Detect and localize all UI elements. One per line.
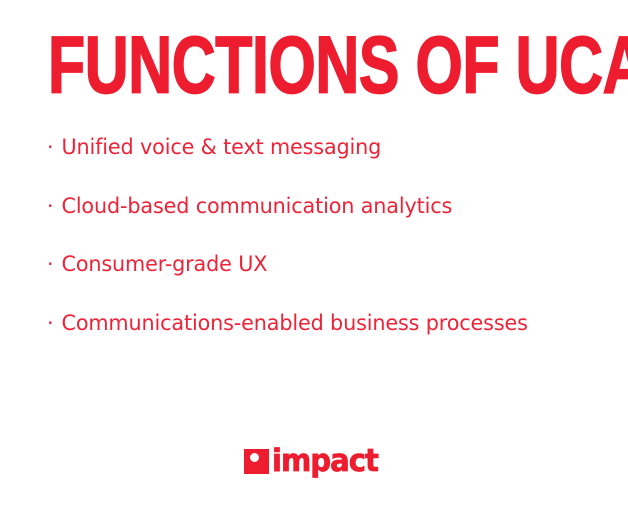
bullet-dot-icon: · xyxy=(47,133,60,164)
list-item-label: Communications-enabled business processe… xyxy=(61,309,575,340)
page-title: FUNCTIONS OF UCAAS xyxy=(48,33,628,99)
list-item-label: Unified voice & text messaging xyxy=(61,133,575,164)
impact-wordmark: impact xyxy=(272,446,378,477)
bullet-dot-icon: · xyxy=(47,192,60,223)
list-item: · Consumer-grade UX xyxy=(47,250,576,281)
impact-logo: impact xyxy=(0,441,628,481)
list-item: · Communications-enabled business proces… xyxy=(47,309,576,340)
list-item: · Unified voice & text messaging xyxy=(47,133,576,164)
list-item: · Cloud-based communication analytics xyxy=(47,192,576,223)
slide-canvas: FUNCTIONS OF UCAAS · Unified voice & tex… xyxy=(0,0,628,512)
bullet-dot-icon: · xyxy=(47,250,60,281)
list-item-label: Cloud-based communication analytics xyxy=(61,192,575,223)
list-item-label: Consumer-grade UX xyxy=(61,250,575,281)
page-title-container: FUNCTIONS OF UCAAS xyxy=(48,28,588,104)
bullet-dot-icon: · xyxy=(47,309,60,340)
impact-square-mark-icon xyxy=(244,449,269,474)
bullet-list: · Unified voice & text messaging · Cloud… xyxy=(47,133,595,339)
